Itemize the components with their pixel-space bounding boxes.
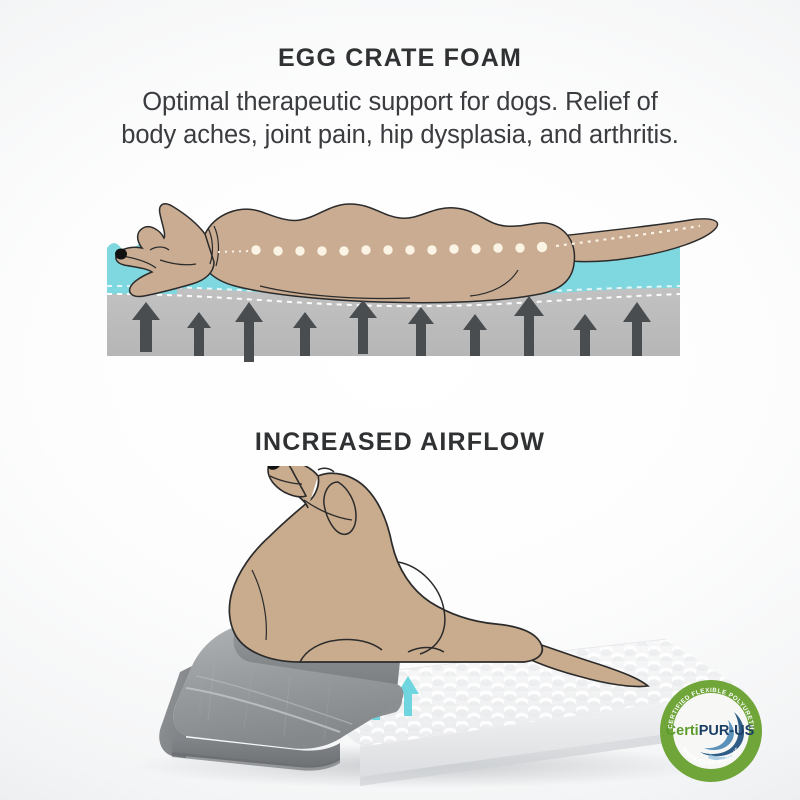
dog-closed-eye	[318, 468, 334, 472]
subtitle-line-2: body aches, joint pain, hip dysplasia, a…	[30, 119, 770, 152]
dog-nose	[115, 249, 127, 260]
page-title-increased-airflow: INCREASED AIRFLOW	[0, 428, 800, 457]
subtitle-egg-crate-foam: Optimal therapeutic support for dogs. Re…	[30, 86, 770, 152]
certipur-us-badge: CertiPUR-US ® CONTAINS CERTIFIED FLEXIBL…	[658, 678, 764, 784]
page-title-egg-crate-foam: EGG CRATE FOAM	[0, 44, 800, 73]
infographic-stage: EGG CRATE FOAM Optimal therapeutic suppo…	[0, 0, 800, 800]
badge-wordmark: CertiPUR-US	[666, 723, 755, 739]
subtitle-line-1: Optimal therapeutic support for dogs. Re…	[30, 86, 770, 119]
illustration-dog-lying-on-foam-cross-section	[0, 176, 800, 371]
dog-body	[229, 473, 542, 662]
badge-wordmark-pur-us: PUR-US	[699, 723, 755, 739]
